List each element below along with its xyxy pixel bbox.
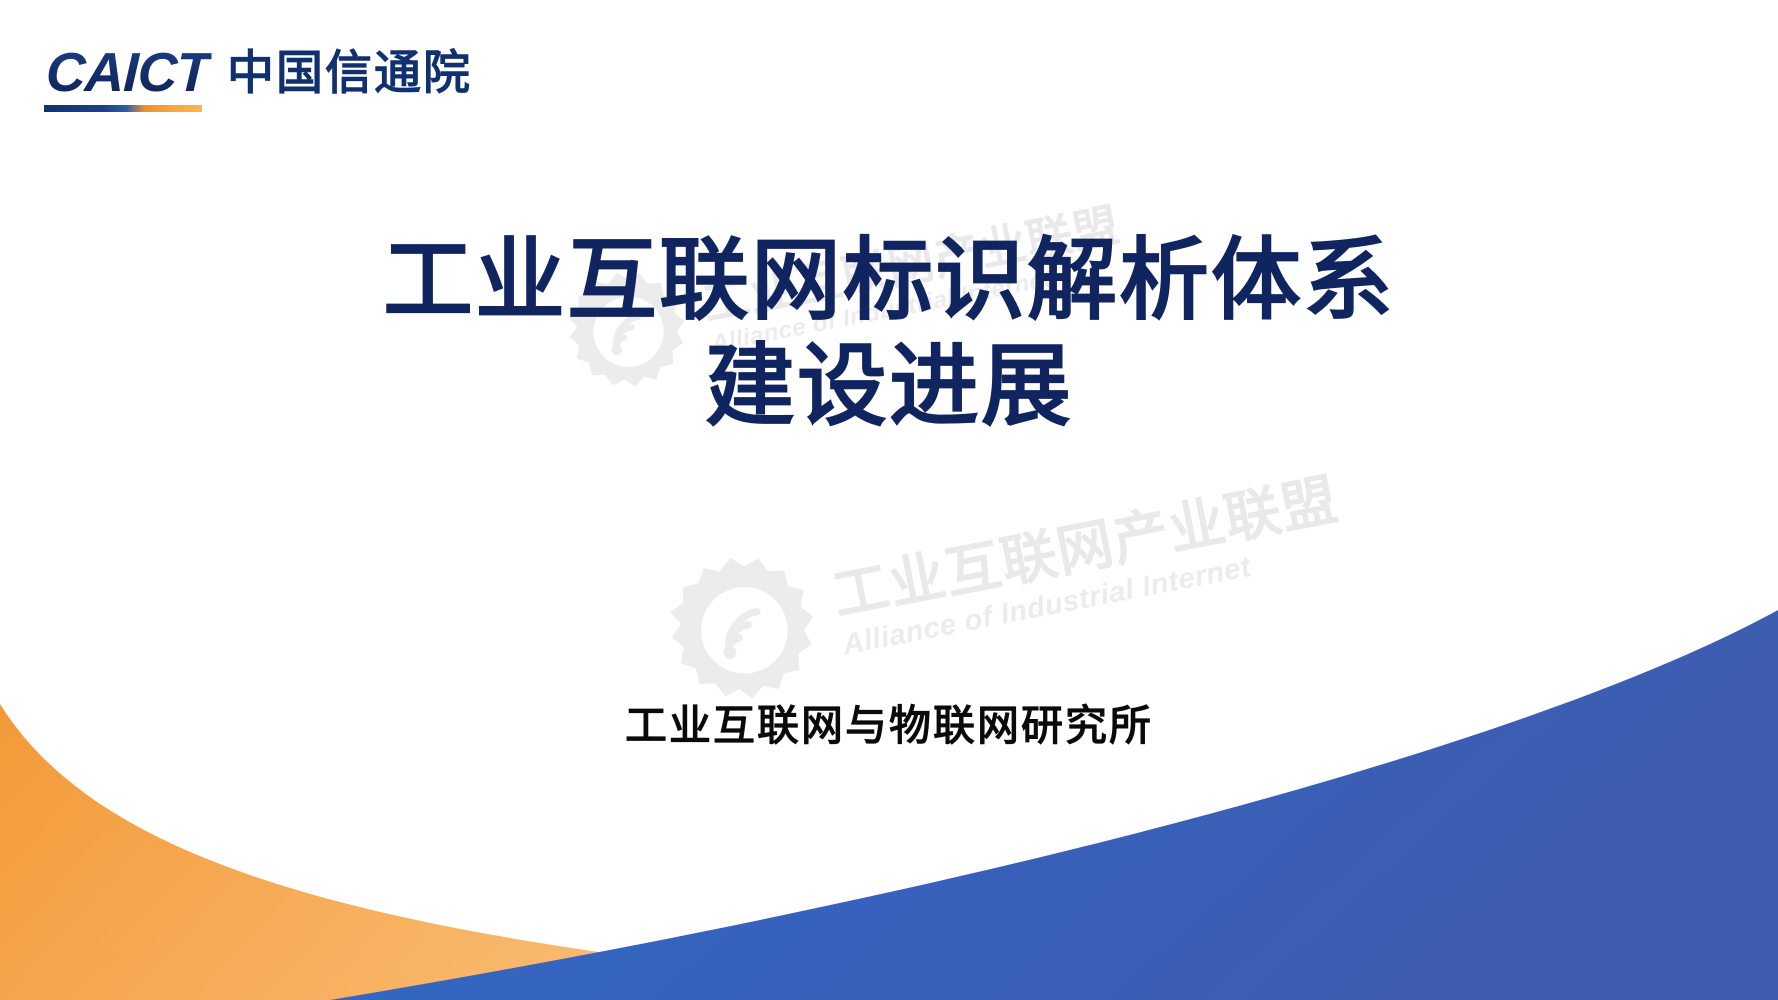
blue-wave-shape-icon [330, 610, 1778, 1000]
slide-subtitle: 工业互联网与物联网研究所 [0, 692, 1778, 753]
logo-underline-bar-icon [44, 105, 202, 112]
caict-wordmark: CAICT [43, 45, 212, 100]
slide-title: 工业互联网标识解析体系 建设进展 [0, 228, 1778, 440]
presentation-slide: CAICT 中国信通院 工业互联网产业联盟 [0, 0, 1778, 1000]
decorative-waves [0, 580, 1778, 1000]
caict-logo-mark: CAICT [44, 45, 211, 112]
subtitle-text: 工业互联网与物联网研究所 [0, 692, 1778, 753]
caict-logo: CAICT 中国信通院 [44, 34, 472, 112]
title-line-2: 建设进展 [0, 334, 1778, 440]
title-line-1: 工业互联网标识解析体系 [0, 228, 1778, 334]
caict-chinese-name: 中国信通院 [227, 34, 472, 112]
